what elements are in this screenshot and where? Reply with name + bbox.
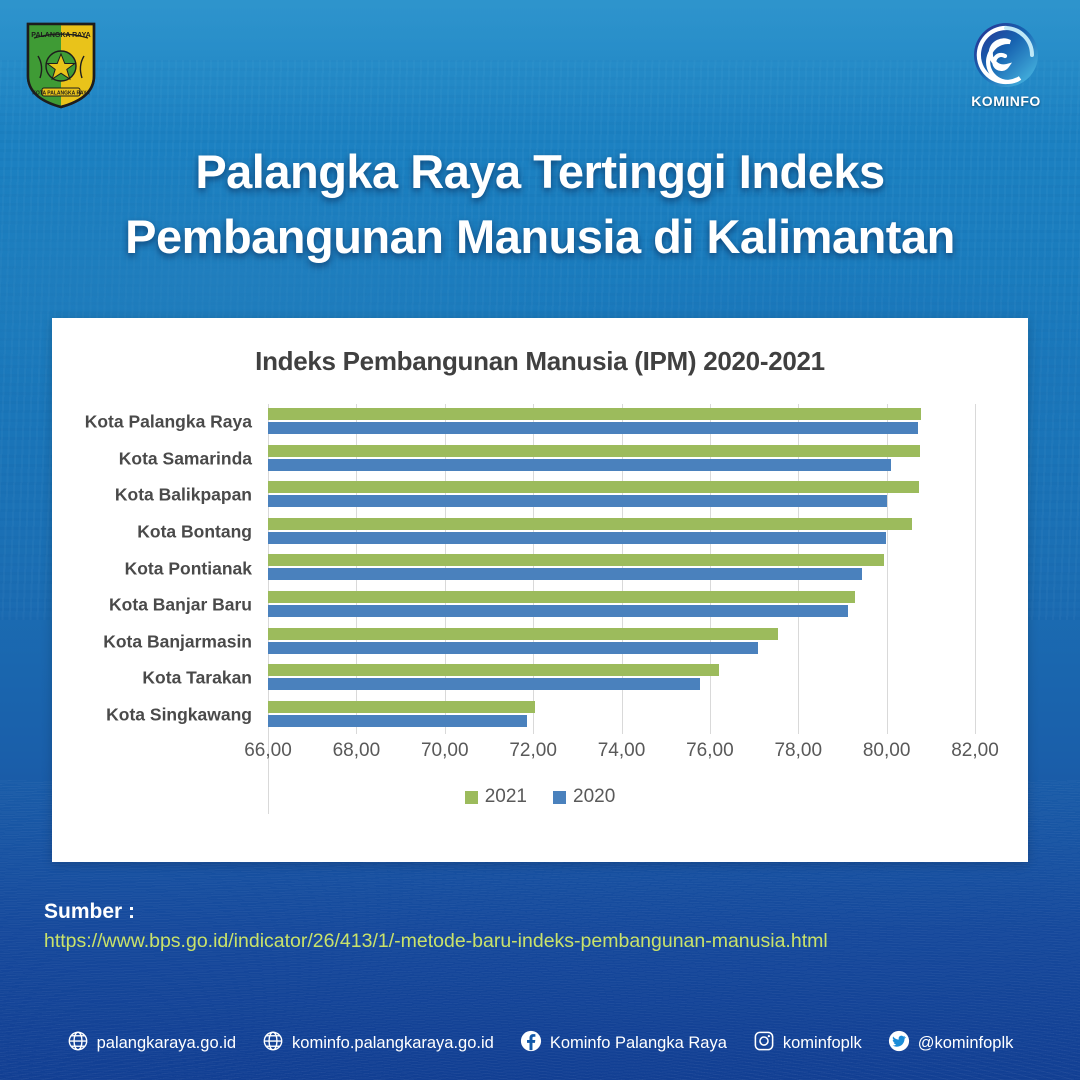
chart-bar-group xyxy=(268,445,975,474)
twitter-icon xyxy=(888,1030,910,1057)
chart-category-label: Kota Pontianak xyxy=(52,558,252,579)
chart-card: Indeks Pembangunan Manusia (IPM) 2020-20… xyxy=(52,318,1028,862)
footer-item-label: Kominfo Palangka Raya xyxy=(550,1034,727,1053)
footer-item[interactable]: kominfo.palangkaraya.go.id xyxy=(262,1030,494,1057)
footer-item[interactable]: Kominfo Palangka Raya xyxy=(520,1030,727,1057)
chart-legend-item-2020[interactable]: 2020 xyxy=(553,786,615,808)
svg-text:PALANGKA RAYA: PALANGKA RAYA xyxy=(31,32,90,39)
chart-bar-2021 xyxy=(268,701,535,713)
page-title: Palangka Raya Tertinggi Indeks Pembangun… xyxy=(0,140,1080,270)
source-url-link[interactable]: https://www.bps.go.id/indicator/26/413/1… xyxy=(44,930,1044,953)
chart-category-label: Kota Balikpapan xyxy=(52,485,252,506)
chart-row: Kota Balikpapan xyxy=(52,477,1028,514)
chart-bar-2021 xyxy=(268,554,884,566)
chart-bar-2020 xyxy=(268,678,700,690)
chart-category-label: Kota Banjarmasin xyxy=(52,631,252,652)
chart-x-tick-label: 68,00 xyxy=(333,740,381,762)
chart-row: Kota Banjar Baru xyxy=(52,587,1028,624)
footer-item[interactable]: @kominfoplk xyxy=(888,1030,1014,1057)
chart-legend: 20212020 xyxy=(52,786,1028,808)
chart-bar-rows: Kota Palangka RayaKota SamarindaKota Bal… xyxy=(52,404,1028,734)
chart-bar-group xyxy=(268,628,975,657)
svg-text:KOTA PALANGKA RAYA: KOTA PALANGKA RAYA xyxy=(32,91,90,97)
background-top-glow xyxy=(0,0,1080,130)
footer-item[interactable]: kominfoplk xyxy=(753,1030,862,1057)
kominfo-logo-label: KOMINFO xyxy=(960,93,1052,109)
chart-x-tick-label: 70,00 xyxy=(421,740,469,762)
instagram-icon xyxy=(753,1030,775,1057)
chart-bar-2020 xyxy=(268,459,891,471)
chart-bar-2021 xyxy=(268,664,719,676)
chart-bar-2020 xyxy=(268,568,862,580)
chart-row: Kota Banjarmasin xyxy=(52,624,1028,661)
chart-plot-area: Kota Palangka RayaKota SamarindaKota Bal… xyxy=(52,404,1028,814)
chart-row: Kota Pontianak xyxy=(52,550,1028,587)
chart-bar-group xyxy=(268,518,975,547)
chart-x-axis: 66,0068,0070,0072,0074,0076,0078,0080,00… xyxy=(268,740,975,774)
chart-category-label: Kota Singkawang xyxy=(52,705,252,726)
chart-bar-2020 xyxy=(268,605,848,617)
chart-category-label: Kota Tarakan xyxy=(52,668,252,689)
legend-swatch-icon xyxy=(465,791,478,804)
chart-row: Kota Bontang xyxy=(52,514,1028,551)
source-block: Sumber : https://www.bps.go.id/indicator… xyxy=(44,900,1044,953)
chart-x-tick-label: 66,00 xyxy=(244,740,292,762)
chart-row: Kota Tarakan xyxy=(52,660,1028,697)
chart-x-tick-label: 80,00 xyxy=(863,740,911,762)
facebook-icon xyxy=(520,1030,542,1057)
chart-category-label: Kota Banjar Baru xyxy=(52,595,252,616)
chart-bar-group xyxy=(268,481,975,510)
footer-social-bar: palangkaraya.go.idkominfo.palangkaraya.g… xyxy=(0,1020,1080,1066)
chart-title: Indeks Pembangunan Manusia (IPM) 2020-20… xyxy=(52,318,1028,377)
chart-bar-group xyxy=(268,664,975,693)
chart-category-label: Kota Samarinda xyxy=(52,448,252,469)
chart-x-tick-label: 74,00 xyxy=(598,740,646,762)
legend-label: 2020 xyxy=(573,786,615,808)
chart-row: Kota Singkawang xyxy=(52,697,1028,734)
legend-label: 2021 xyxy=(485,786,527,808)
chart-x-tick-label: 76,00 xyxy=(686,740,734,762)
chart-bar-2020 xyxy=(268,715,527,727)
chart-legend-item-2021[interactable]: 2021 xyxy=(465,786,527,808)
chart-x-tick-label: 82,00 xyxy=(951,740,999,762)
footer-item[interactable]: palangkaraya.go.id xyxy=(67,1030,236,1057)
page-title-line-2: Pembangunan Manusia di Kalimantan xyxy=(60,205,1020,270)
page-title-line-1: Palangka Raya Tertinggi Indeks xyxy=(60,140,1020,205)
chart-bar-2021 xyxy=(268,518,912,530)
palangka-raya-emblem-logo: PALANGKA RAYA KOTA PALANGKA RAYA xyxy=(22,18,100,110)
globe-icon xyxy=(67,1030,89,1057)
globe-icon xyxy=(262,1030,284,1057)
chart-category-label: Kota Palangka Raya xyxy=(52,412,252,433)
footer-item-label: kominfoplk xyxy=(783,1034,862,1053)
chart-bar-2021 xyxy=(268,408,921,420)
chart-bar-2021 xyxy=(268,445,920,457)
source-heading: Sumber : xyxy=(44,900,1044,924)
kominfo-logo: KOMINFO xyxy=(960,20,1052,112)
footer-item-label: kominfo.palangkaraya.go.id xyxy=(292,1034,494,1053)
chart-bar-2021 xyxy=(268,628,778,640)
chart-bar-2020 xyxy=(268,422,918,434)
chart-row: Kota Samarinda xyxy=(52,441,1028,478)
chart-row: Kota Palangka Raya xyxy=(52,404,1028,441)
footer-item-label: palangkaraya.go.id xyxy=(97,1034,236,1053)
chart-bar-group xyxy=(268,701,975,730)
footer-item-label: @kominfoplk xyxy=(918,1034,1014,1053)
chart-x-tick-label: 78,00 xyxy=(774,740,822,762)
chart-x-tick-label: 72,00 xyxy=(509,740,557,762)
chart-bar-2020 xyxy=(268,532,886,544)
chart-bar-group xyxy=(268,554,975,583)
legend-swatch-icon xyxy=(553,791,566,804)
chart-bar-group xyxy=(268,408,975,437)
chart-bar-group xyxy=(268,591,975,620)
chart-bar-2021 xyxy=(268,481,919,493)
chart-bar-2021 xyxy=(268,591,855,603)
chart-bar-2020 xyxy=(268,495,887,507)
chart-bar-2020 xyxy=(268,642,758,654)
chart-category-label: Kota Bontang xyxy=(52,522,252,543)
